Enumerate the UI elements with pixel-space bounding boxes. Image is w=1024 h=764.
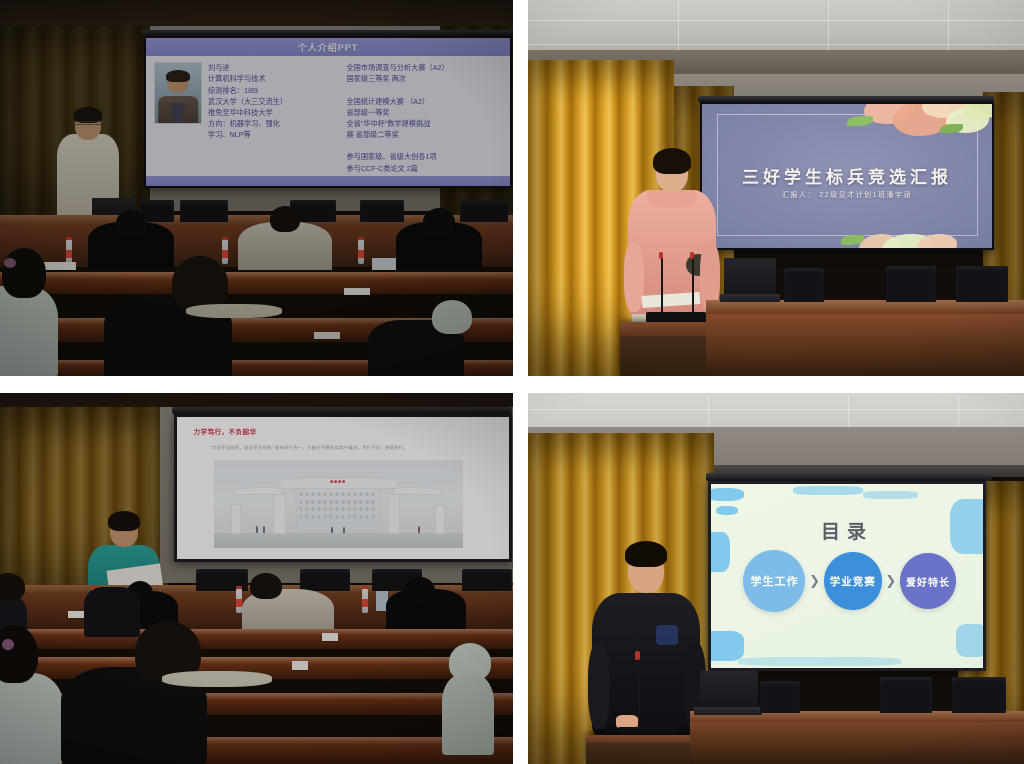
- slide-decoration: [716, 506, 738, 515]
- judge-head: [405, 577, 435, 603]
- water-bottle: [222, 240, 228, 264]
- water-bottle: [362, 589, 368, 613]
- judges-table: [690, 711, 1024, 764]
- photo-panel-bottom-left: 力学笃行，不负韶华 “学而不思则罔，思而不学则殆” 唯有知行合一，方能在不断的实…: [0, 393, 513, 764]
- gate-pillar: [273, 493, 285, 534]
- ceiling-tile-line: [528, 409, 1024, 410]
- ceiling-tile-line: [528, 20, 1024, 21]
- projection-screen: 个人介绍PPT 刘与进 计算机科学与技术 综测排名：1/89 武汉大学（大三交流…: [144, 36, 512, 188]
- audience-bench: [0, 272, 513, 294]
- chair: [880, 677, 932, 713]
- slide-body: 刘与进 计算机科学与技术 综测排名：1/89 武汉大学（大三交流生） 推免至华中…: [146, 56, 510, 176]
- projection-screen: 目录 学生工作 ❯ 学业竞赛 ❯ 爱好特长: [708, 481, 986, 671]
- presenter-figure: [626, 146, 718, 332]
- screen-roller: [172, 407, 512, 414]
- gate-pillar: [435, 504, 445, 534]
- gate-side-wing: [233, 487, 283, 495]
- paper-sheet: [44, 262, 76, 270]
- bench-highlight: [0, 629, 513, 635]
- audience-member: [0, 673, 63, 764]
- laptop-base: [694, 707, 762, 715]
- bottle-label: [358, 250, 364, 258]
- microphone-head: [635, 651, 640, 660]
- portrait-hair: [166, 70, 190, 82]
- glasses-icon: [74, 121, 102, 125]
- laptop-lid: [724, 258, 776, 296]
- chair: [462, 569, 512, 591]
- sweatshirt-logo: [656, 625, 678, 645]
- slide-decoration: [738, 657, 901, 666]
- photo-collage: 个人介绍PPT 刘与进 计算机科学与技术 综测排名：1/89 武汉大学（大三交流…: [0, 0, 1024, 764]
- building-window-row: [300, 492, 376, 496]
- slide-title-cover: 三好学生标兵竞选汇报 汇报人： 22级见才计划1班潘宇涵: [702, 104, 992, 248]
- slide-decoration: [956, 624, 983, 657]
- pedestrian: [418, 526, 420, 533]
- hair-tie: [4, 258, 16, 268]
- agenda-item-1-label: 学生工作: [750, 573, 798, 589]
- audience-head: [2, 248, 46, 298]
- presenter-hair: [108, 511, 140, 531]
- presenter-arm-left: [588, 643, 610, 729]
- microphone-head: [659, 252, 663, 259]
- chevron-right-icon: ❯: [809, 573, 820, 589]
- slide-right-column: 全国市场调查与分析大赛（A2） 国家级三等奖 两次 全国统计建模大赛 （A2） …: [346, 62, 502, 174]
- projection-screen: 力学笃行，不负韶华 “学而不思则罔，思而不学则殆” 唯有知行合一，方能在不断的实…: [174, 414, 512, 562]
- screen-surface: 力学笃行，不负韶华 “学而不思则罔，思而不学则殆” 唯有知行合一，方能在不断的实…: [177, 417, 509, 559]
- presenter-hair: [653, 148, 691, 174]
- chair: [952, 677, 1006, 713]
- chair: [760, 681, 800, 713]
- slide-title: 目录: [711, 517, 983, 544]
- paper-sheet: [292, 661, 308, 670]
- judges-table: [706, 300, 1024, 376]
- slide-campus-photo: 力学笃行，不负韶华 “学而不思则罔，思而不学则殆” 唯有知行合一，方能在不断的实…: [177, 417, 509, 559]
- slide-caption: “学而不思则罔，思而不学则殆” 唯有知行合一，方能在不断的实践中精进，笃行不怠，…: [210, 445, 482, 451]
- audience-head: [432, 300, 472, 334]
- photo-panel-top-right: 三好学生标兵竞选汇报 汇报人： 22级见才计划1班潘宇涵: [528, 0, 1024, 376]
- water-bottle: [66, 240, 72, 264]
- gate-building: [296, 482, 381, 531]
- microphone-stand: [638, 659, 640, 735]
- table-top-edge: [706, 300, 1024, 314]
- bottle-label: [236, 599, 242, 607]
- paper-sheet: [322, 633, 338, 641]
- phone-screen: [372, 258, 396, 270]
- chevron-right-icon: ❯: [885, 573, 896, 589]
- presenter-hair: [625, 541, 667, 567]
- flower-petal: [963, 104, 992, 120]
- hoodie-hood: [647, 190, 697, 208]
- agenda-item-2-label: 学业竞赛: [830, 574, 876, 589]
- pedestrian: [331, 527, 333, 533]
- portrait-photo: [154, 62, 202, 124]
- photo-panel-bottom-right: 目录 学生工作 ❯ 学业竞赛 ❯ 爱好特长: [528, 393, 1024, 764]
- slide-title: 个人介绍PPT: [146, 38, 510, 56]
- presenter-arm-left: [624, 242, 644, 312]
- gate-sign-text: ■■■■: [330, 479, 346, 485]
- agenda-circles: 学生工作 ❯ 学业竞赛 ❯ 爱好特长: [727, 550, 972, 612]
- chair: [360, 200, 404, 222]
- paper-sheet: [314, 332, 340, 339]
- screen-surface: 三好学生标兵竞选汇报 汇报人： 22级见才计划1班潘宇涵: [702, 104, 992, 248]
- slide-decoration: [711, 631, 744, 660]
- collar: [162, 671, 272, 687]
- screen-surface: 目录 学生工作 ❯ 学业竞赛 ❯ 爱好特长: [711, 484, 983, 668]
- slide-title: 三好学生标兵竞选汇报: [702, 163, 992, 188]
- audience-bench: [0, 629, 513, 649]
- screen-surface: 个人介绍PPT 刘与进 计算机科学与技术 综测排名：1/89 武汉大学（大三交流…: [146, 38, 510, 186]
- slide-agenda: 目录 学生工作 ❯ 学业竞赛 ❯ 爱好特长: [711, 484, 983, 668]
- pedestrian: [256, 526, 258, 533]
- laptop-base: [720, 294, 780, 302]
- chair: [886, 266, 936, 302]
- judge-head: [270, 206, 300, 232]
- hair-tie: [2, 639, 14, 650]
- chair: [300, 569, 350, 591]
- bottle-cap: [362, 586, 368, 589]
- slide-left-column: 刘与进 计算机科学与技术 综测排名：1/89 武汉大学（大三交流生） 推免至华中…: [208, 62, 340, 174]
- chair: [956, 266, 1008, 302]
- chair: [460, 200, 508, 222]
- bottle-label: [362, 599, 368, 607]
- bottle-label: [66, 250, 72, 258]
- gate-side-wing: [393, 487, 443, 495]
- slide-footer-bar: [146, 176, 510, 186]
- gate-pillar: [388, 493, 400, 534]
- audience-member: [0, 286, 58, 376]
- agenda-item-2: 学业竞赛: [824, 552, 882, 610]
- bottle-cap: [66, 237, 72, 240]
- agenda-item-1: 学生工作: [743, 550, 805, 612]
- bench-highlight: [0, 272, 513, 279]
- building-window-row: [300, 500, 376, 504]
- collar: [186, 304, 282, 318]
- bottle-cap: [236, 586, 242, 589]
- projection-screen: 三好学生标兵竞选汇报 汇报人： 22级见才计划1班潘宇涵: [700, 102, 994, 250]
- bottle-cap: [358, 237, 364, 240]
- gate-pillar: [231, 504, 241, 534]
- microphone-head: [690, 252, 694, 259]
- pedestrian: [343, 527, 345, 533]
- screen-roller: [706, 473, 992, 481]
- judge-head: [250, 573, 282, 599]
- bottle-cap: [222, 237, 228, 240]
- gate-ground: [214, 533, 463, 548]
- building-window-row: [300, 507, 376, 511]
- presenter-figure: [590, 539, 702, 737]
- bottle-label: [222, 250, 228, 258]
- laptop-lid: [700, 671, 758, 709]
- audience-member: [84, 587, 140, 637]
- bench-highlight: [0, 657, 513, 664]
- building-window-row: [300, 515, 376, 519]
- judge-head: [116, 210, 146, 236]
- audience-member: [442, 675, 494, 755]
- photo-panel-top-left: 个人介绍PPT 刘与进 计算机科学与技术 综测排名：1/89 武汉大学（大三交流…: [0, 0, 513, 376]
- pedestrian: [263, 526, 265, 533]
- campus-gate-image: ■■■■: [214, 460, 463, 548]
- agenda-item-3-label: 爱好特长: [906, 574, 950, 589]
- slide-decoration: [711, 488, 744, 501]
- ceiling-tile-line: [528, 44, 1024, 45]
- chair: [784, 268, 824, 302]
- judge-head: [423, 208, 455, 236]
- slide-title: 力学笃行，不负韶华: [194, 426, 257, 436]
- slide-decoration: [793, 486, 864, 495]
- paper-sheet: [344, 288, 370, 295]
- slide-personal-intro: 个人介绍PPT 刘与进 计算机科学与技术 综测排名：1/89 武汉大学（大三交流…: [146, 38, 510, 186]
- slide-subtitle: 汇报人： 22级见才计划1班潘宇涵: [702, 190, 992, 200]
- chair: [180, 200, 228, 222]
- agenda-item-3: 爱好特长: [900, 553, 956, 609]
- slide-decoration: [863, 491, 917, 498]
- water-bottle: [358, 240, 364, 264]
